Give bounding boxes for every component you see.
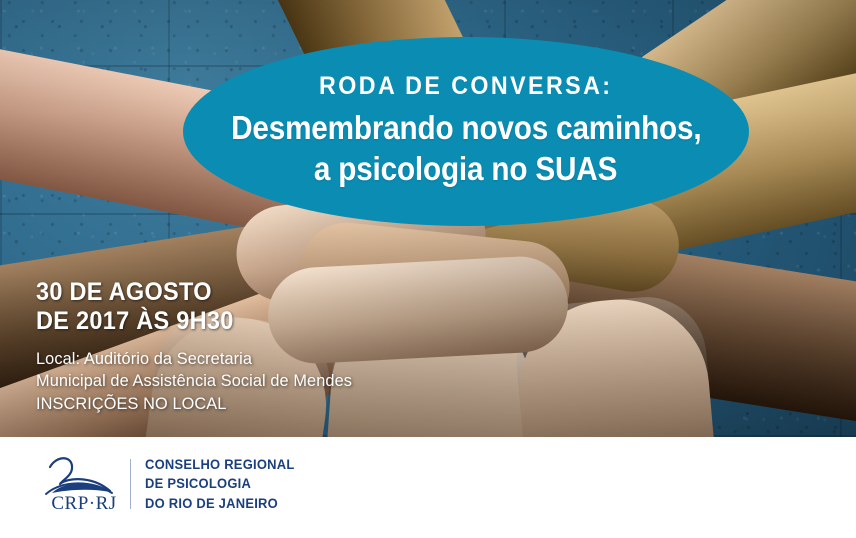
event-date: 30 DE AGOSTO DE 2017 ÀS 9H30 xyxy=(36,278,246,335)
event-location: Local: Auditório da Secretaria Municipal… xyxy=(36,348,365,415)
event-kicker: RODA DE CONVERSA: xyxy=(319,74,612,99)
logo-divider xyxy=(130,459,131,509)
event-date-line2: DE 2017 ÀS 9H30 xyxy=(36,307,234,336)
crp-rj-logo: CRP·RJ CONSELHO REGIONAL DE PSICOLOGIA D… xyxy=(38,451,301,517)
event-headline-line1: Desmembrando novos caminhos, xyxy=(231,108,701,148)
event-location-line1: Local: Auditório da Secretaria xyxy=(36,348,352,370)
event-location-line2: Municipal de Assistência Social de Mende… xyxy=(36,370,352,392)
crp-acronym: CRP·RJ xyxy=(44,493,124,515)
hero-photo: RODA DE CONVERSA: Desmembrando novos cam… xyxy=(0,0,856,437)
crp-bird-icon: CRP·RJ xyxy=(38,451,124,517)
title-badge: RODA DE CONVERSA: Desmembrando novos cam… xyxy=(183,37,749,226)
event-date-line1: 30 DE AGOSTO xyxy=(36,278,234,307)
event-poster: RODA DE CONVERSA: Desmembrando novos cam… xyxy=(0,0,856,538)
crp-name-line1: CONSELHO REGIONAL xyxy=(145,455,295,474)
crp-name-line2: DE PSICOLOGIA xyxy=(145,474,295,493)
footer-bar: CRP·RJ CONSELHO REGIONAL DE PSICOLOGIA D… xyxy=(0,437,856,538)
crp-name-line3: DO RIO DE JANEIRO xyxy=(145,494,295,513)
crp-full-name: CONSELHO REGIONAL DE PSICOLOGIA DO RIO D… xyxy=(145,455,295,513)
event-registration-note: INSCRIÇÕES NO LOCAL xyxy=(36,393,352,415)
event-headline-line2: a psicologia no SUAS xyxy=(314,149,617,189)
